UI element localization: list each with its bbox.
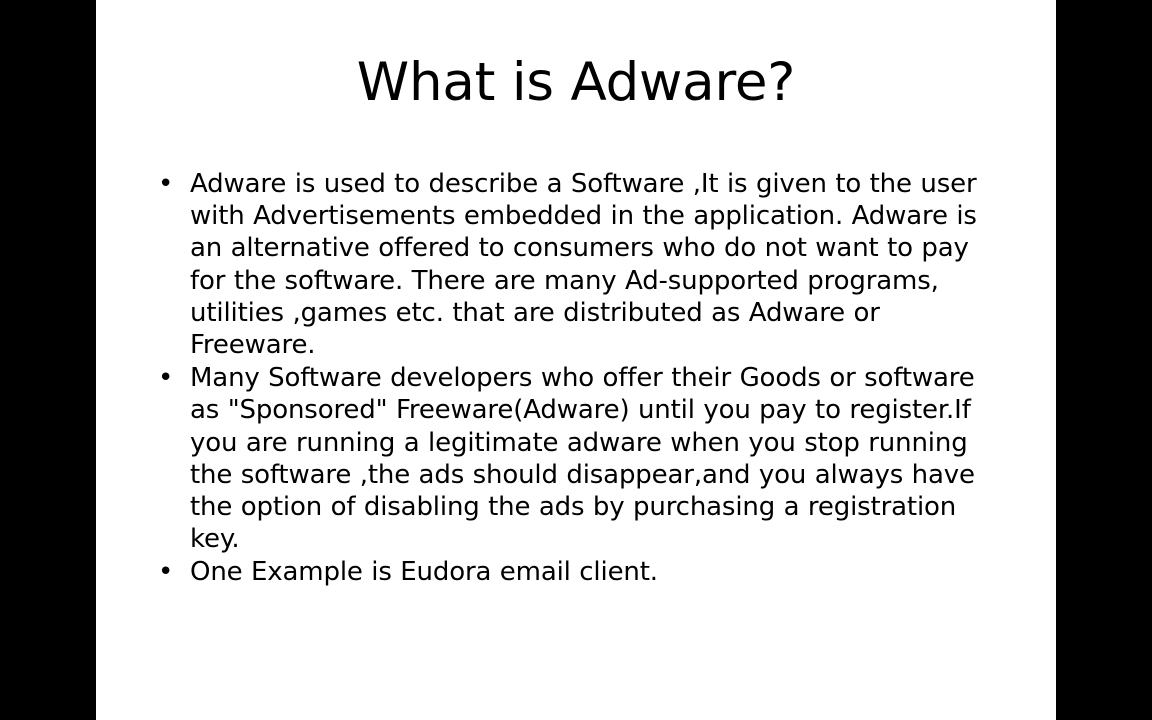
slide-title: What is Adware? (96, 52, 1056, 114)
bullet-list-item-text: Many Software developers who offer their… (190, 362, 1000, 555)
letterbox-bar-left (0, 0, 96, 720)
bullet-point-icon: • (158, 556, 178, 588)
bullet-list-item-text: Adware is used to describe a Software ,I… (190, 168, 1000, 361)
slide-viewport: What is Adware? • Adware is used to desc… (0, 0, 1152, 720)
presentation-slide: What is Adware? • Adware is used to desc… (96, 0, 1056, 720)
bullet-point-icon: • (158, 168, 178, 200)
slide-body-content: • Adware is used to describe a Software … (152, 168, 1000, 590)
bullet-point-icon: • (158, 362, 178, 394)
bullet-list-item: • One Example is Eudora email client. (152, 556, 1000, 588)
bullet-list-item-text: One Example is Eudora email client. (190, 556, 1000, 588)
letterbox-bar-right (1056, 0, 1152, 720)
bullet-list-item: • Many Software developers who offer the… (152, 362, 1000, 555)
bullet-list-item: • Adware is used to describe a Software … (152, 168, 1000, 361)
